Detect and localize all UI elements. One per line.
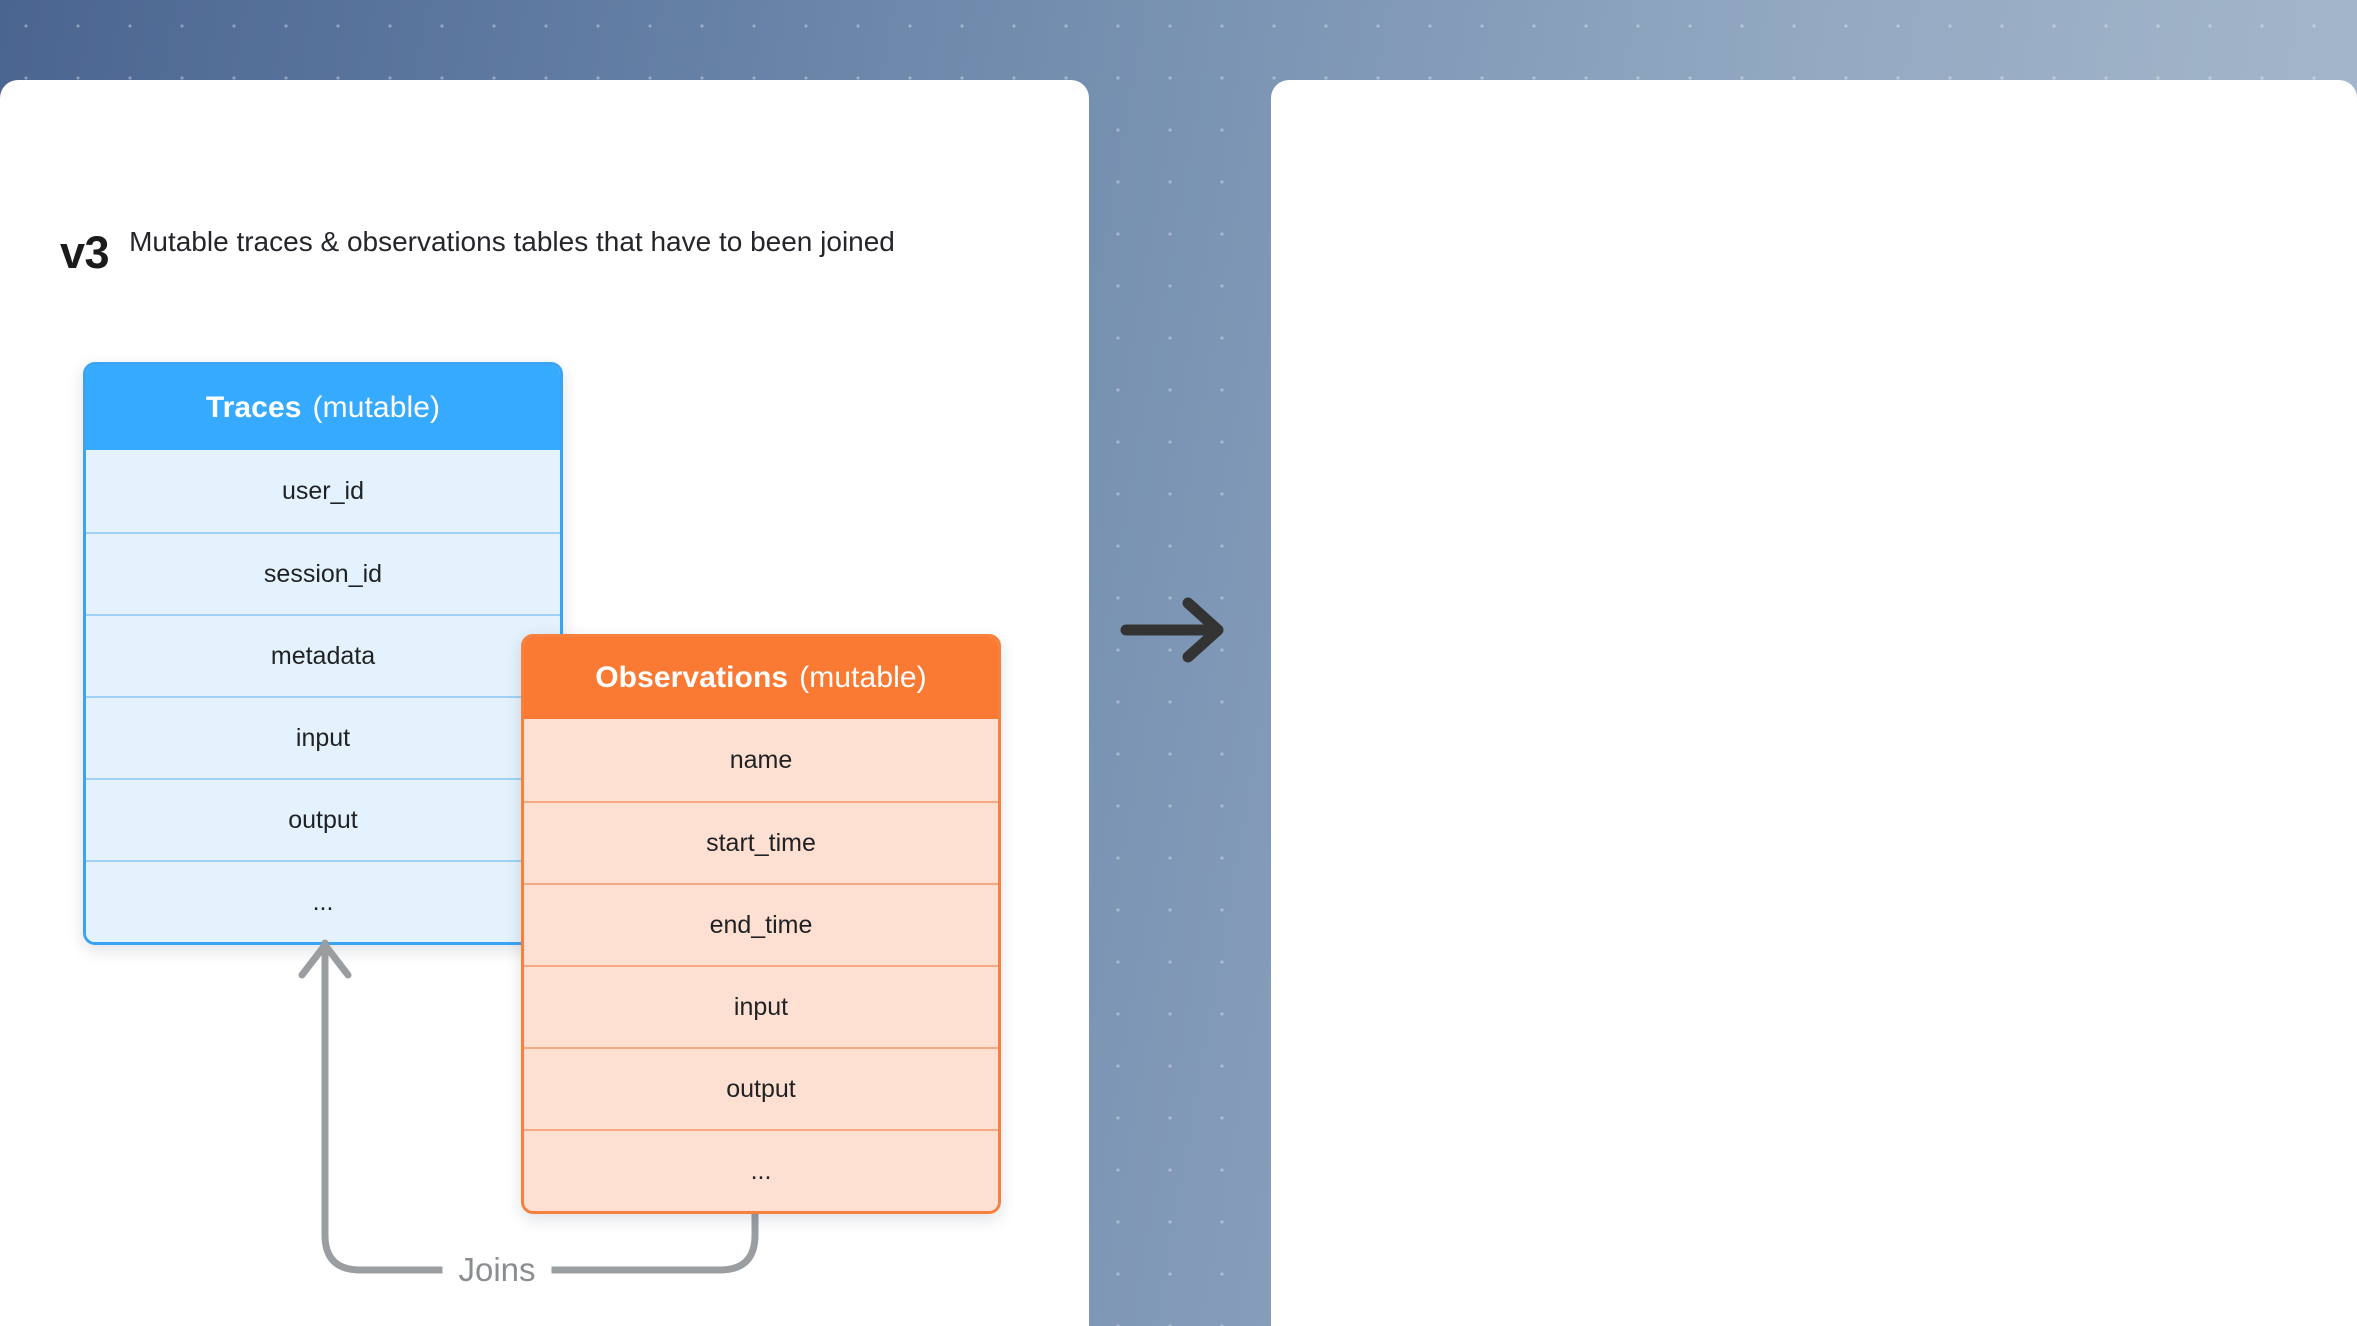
- table-row: ...: [86, 860, 560, 942]
- table-card-traces: Traces (mutable) user_id session_id meta…: [83, 362, 563, 945]
- joins-label: Joins: [442, 1251, 551, 1289]
- table-mutability: (mutable): [799, 661, 927, 695]
- table-title: Observations: [595, 661, 788, 695]
- field-name: ...: [751, 1157, 772, 1186]
- field-name: output: [288, 806, 358, 835]
- field-name: input: [296, 724, 350, 753]
- table-title: Traces: [206, 391, 302, 425]
- table-row: input: [86, 696, 560, 778]
- table-row: input: [524, 965, 998, 1047]
- diagram-canvas: Traces (mutable) user_id session_id meta…: [0, 0, 2357, 1326]
- table-mutability: (mutable): [313, 391, 441, 425]
- field-name: start_time: [706, 829, 816, 858]
- table-row: end_time: [524, 883, 998, 965]
- table-row: output: [86, 778, 560, 860]
- table-header-observations-mutable: Observations (mutable): [524, 637, 998, 719]
- field-name: output: [726, 1075, 796, 1104]
- table-body-traces: user_id session_id metadata input output…: [86, 450, 560, 942]
- field-name: name: [730, 746, 793, 775]
- panel-subtitle: Mutable traces & observations tables tha…: [129, 222, 895, 262]
- field-name: session_id: [264, 560, 382, 589]
- field-name: input: [734, 993, 788, 1022]
- table-body-observations-mutable: name start_time end_time input output ..…: [524, 719, 998, 1211]
- panel-v3: Traces (mutable) user_id session_id meta…: [0, 80, 1089, 1326]
- table-row: session_id: [86, 532, 560, 614]
- table-card-observations-mutable: Observations (mutable) name start_time e…: [521, 634, 1001, 1214]
- table-row: user_id: [86, 450, 560, 532]
- table-row: ...: [524, 1129, 998, 1211]
- table-row: metadata: [86, 614, 560, 696]
- field-name: metadata: [271, 642, 375, 671]
- table-row: start_time: [524, 801, 998, 883]
- version-badge: v3: [60, 222, 109, 275]
- field-name: ...: [313, 888, 334, 917]
- panel-v4: Observations (immutable) name start_time…: [1271, 80, 2357, 1326]
- arrow-right-icon: [1120, 595, 1232, 665]
- table-row: name: [524, 719, 998, 801]
- heading-v3: v3 Mutable traces & observations tables …: [60, 222, 895, 275]
- field-name: user_id: [282, 477, 364, 506]
- field-name: end_time: [710, 911, 813, 940]
- table-row: output: [524, 1047, 998, 1129]
- table-header-traces: Traces (mutable): [86, 365, 560, 450]
